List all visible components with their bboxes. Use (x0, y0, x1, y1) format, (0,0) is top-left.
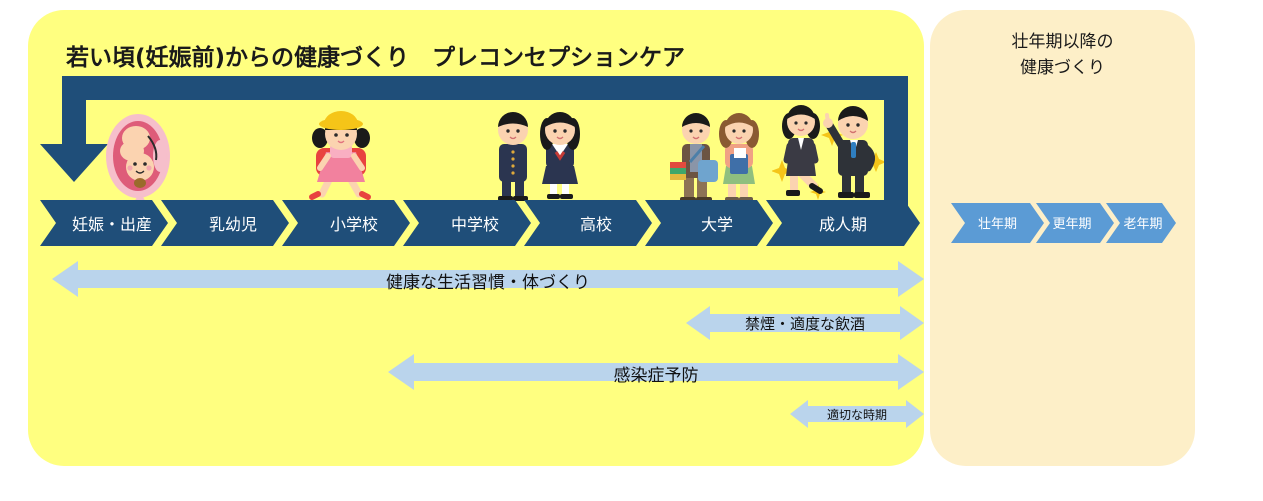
stage-chevron-1 (161, 200, 289, 246)
senior-chevron-2 (1106, 203, 1176, 243)
senior-chevron-1 (1036, 203, 1114, 243)
senior-stage-chevrons (930, 203, 1195, 243)
stage-chevrons (40, 200, 920, 246)
lifecycle-stage-rail: 妊娠・出産 乳幼児 小学校 中学校 高校 大学 成人期 (40, 200, 920, 246)
side-panel-title-line1: 壮年期以降の (930, 30, 1195, 56)
measure-band-3[interactable]: 適切な時期 (790, 398, 924, 430)
side-panel-title-line2: 健康づくり (930, 56, 1195, 82)
working-adults-icon (772, 98, 884, 204)
double-arrow-2 (388, 351, 924, 393)
double-arrow-0 (52, 258, 924, 300)
university-students-icon (666, 104, 766, 204)
elementary-student-icon (302, 108, 380, 204)
measure-band-2[interactable]: 感染症予防 (388, 351, 924, 393)
stage-chevron-3 (403, 200, 531, 246)
measure-band-1[interactable]: 禁煙・適度な飲酒 (686, 303, 924, 343)
measure-band-0[interactable]: 健康な生活習慣・体づくり (52, 258, 924, 300)
stage-chevron-6 (766, 200, 920, 246)
stage-chevron-4 (524, 200, 652, 246)
stage-chevron-5 (645, 200, 773, 246)
main-panel-title: 若い頃(妊娠前)からの健康づくり プレコンセプションケア (66, 38, 685, 72)
junior-high-students-icon (486, 104, 590, 204)
double-arrow-3 (790, 398, 924, 430)
stage-chevron-0 (40, 200, 168, 246)
pregnant-womb-icon (96, 104, 180, 204)
senior-chevron-0 (951, 203, 1044, 243)
double-arrow-1 (686, 303, 924, 343)
side-panel-title: 壮年期以降の 健康づくり (930, 30, 1195, 81)
senior-stage-rail: 壮年期 更年期 老年期 (930, 203, 1195, 243)
diagram-canvas: 若い頃(妊娠前)からの健康づくり プレコンセプションケア 壮年期以降の 健康づく… (0, 0, 1263, 501)
stage-chevron-2 (282, 200, 410, 246)
